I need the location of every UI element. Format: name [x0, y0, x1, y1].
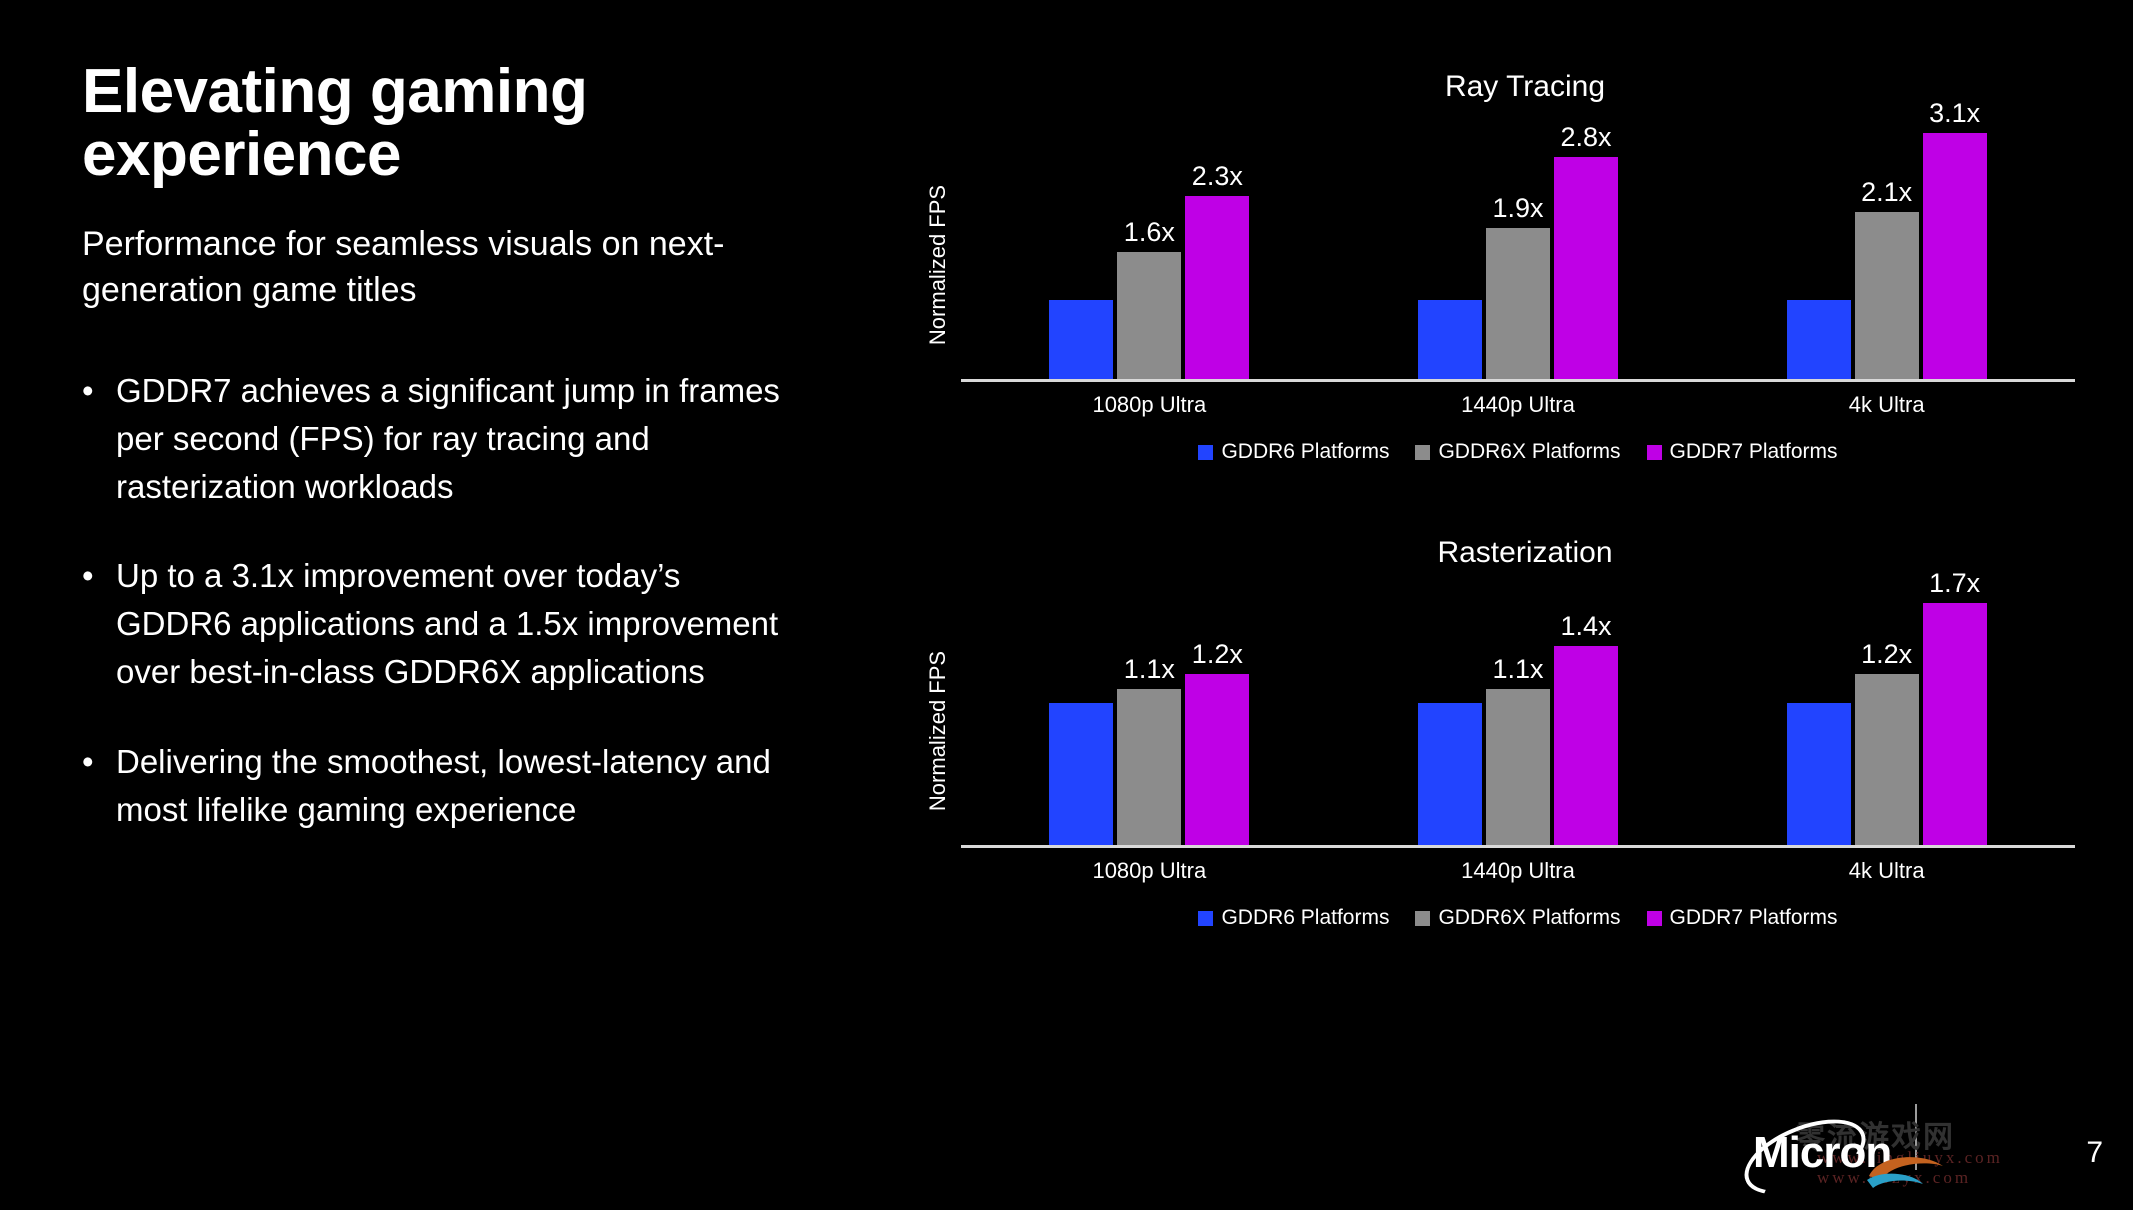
- list-item: • Delivering the smoothest, lowest-laten…: [82, 738, 782, 834]
- legend-swatch-icon: [1647, 445, 1662, 460]
- legend-swatch-icon: [1198, 445, 1213, 460]
- micron-logo: Micron: [1753, 1128, 1891, 1178]
- bar-value-label: 1.6x: [1124, 217, 1175, 248]
- bar-column: [1787, 578, 1851, 845]
- micron-swoosh-icon: [1865, 1146, 1957, 1192]
- y-axis-label: Normalized FPS: [915, 112, 961, 418]
- bar-column: 1.1x: [1486, 578, 1550, 845]
- bar-group: 1.1x1.4x: [1334, 578, 1703, 845]
- bar-column: [1049, 578, 1113, 845]
- bar-column: 1.7x: [1923, 578, 1987, 845]
- bar-value-label: 1.2x: [1861, 639, 1912, 670]
- bar-value-label: 2.3x: [1192, 161, 1243, 192]
- bar-column: 2.3x: [1185, 112, 1249, 379]
- legend-label: GDDR7 Platforms: [1670, 440, 1838, 464]
- legend-swatch-icon: [1198, 911, 1213, 926]
- bar: 2.1x: [1855, 212, 1919, 379]
- chart-legend: GDDR6 PlatformsGDDR6X PlatformsGDDR7 Pla…: [961, 440, 2075, 464]
- legend-item: GDDR7 Platforms: [1647, 906, 1838, 930]
- bar-column: 2.8x: [1554, 112, 1618, 379]
- page-number: 7: [2086, 1136, 2103, 1170]
- legend-item: GDDR7 Platforms: [1647, 440, 1838, 464]
- y-axis-label-text: Normalized FPS: [925, 651, 951, 811]
- bar: [1049, 703, 1113, 845]
- bar-value-label: 1.1x: [1124, 654, 1175, 685]
- y-axis-label-text: Normalized FPS: [925, 185, 951, 345]
- page-title: Elevating gaming experience: [82, 60, 782, 186]
- bar: 1.1x: [1486, 689, 1550, 845]
- bar: 1.6x: [1117, 252, 1181, 379]
- bar-column: 3.1x: [1923, 112, 1987, 379]
- bar-column: [1049, 112, 1113, 379]
- x-axis-tick-label: 4k Ultra: [1702, 392, 2071, 418]
- bar-column: 1.6x: [1117, 112, 1181, 379]
- bar-group: 1.6x2.3x: [965, 112, 1334, 379]
- bar-column: [1787, 112, 1851, 379]
- legend-item: GDDR6 Platforms: [1198, 906, 1389, 930]
- bar-column: 1.1x: [1117, 578, 1181, 845]
- bar-value-label: 1.4x: [1560, 611, 1611, 642]
- bar: [1418, 703, 1482, 845]
- chart-rasterization: Rasterization Normalized FPS 1.1x1.2x1.1…: [915, 536, 2075, 930]
- legend-item: GDDR6X Platforms: [1415, 906, 1620, 930]
- bar-value-label: 2.1x: [1861, 177, 1912, 208]
- x-axis-tick-label: 1080p Ultra: [965, 858, 1334, 884]
- bar-column: 1.2x: [1855, 578, 1919, 845]
- chart-ray-tracing: Ray Tracing Normalized FPS 1.6x2.3x1.9x2…: [915, 70, 2075, 464]
- bar-column: [1418, 112, 1482, 379]
- bar-column: 1.9x: [1486, 112, 1550, 379]
- legend-swatch-icon: [1415, 445, 1430, 460]
- bar-group: 1.1x1.2x: [965, 578, 1334, 845]
- bar: 1.4x: [1554, 646, 1618, 845]
- x-axis-labels: 1080p Ultra1440p Ultra4k Ultra: [961, 392, 2075, 418]
- bar: 2.8x: [1554, 157, 1618, 379]
- plot-area: 1.6x2.3x1.9x2.8x2.1x3.1x 1080p Ultra1440…: [961, 112, 2075, 418]
- bar: [1787, 300, 1851, 379]
- bar-column: 1.4x: [1554, 578, 1618, 845]
- bar: 1.9x: [1486, 228, 1550, 379]
- bar: [1418, 300, 1482, 379]
- bar-value-label: 1.9x: [1492, 193, 1543, 224]
- slide-subtitle: Performance for seamless visuals on next…: [82, 222, 782, 312]
- slide-text-column: Elevating gaming experience Performance …: [82, 60, 782, 876]
- bullet-text: GDDR7 achieves a significant jump in fra…: [116, 367, 782, 511]
- bar: 1.1x: [1117, 689, 1181, 845]
- bar-value-label: 3.1x: [1929, 98, 1980, 129]
- legend-swatch-icon: [1647, 911, 1662, 926]
- legend-label: GDDR6 Platforms: [1221, 906, 1389, 930]
- chart-title: Ray Tracing: [975, 70, 2075, 104]
- bar: [1049, 300, 1113, 379]
- bar-groups: 1.6x2.3x1.9x2.8x2.1x3.1x: [961, 112, 2075, 382]
- bar: 1.2x: [1855, 674, 1919, 845]
- legend-swatch-icon: [1415, 911, 1430, 926]
- plot-area: 1.1x1.2x1.1x1.4x1.2x1.7x 1080p Ultra1440…: [961, 578, 2075, 884]
- x-axis-tick-label: 1440p Ultra: [1334, 858, 1703, 884]
- legend-label: GDDR6X Platforms: [1438, 440, 1620, 464]
- bar-column: 2.1x: [1855, 112, 1919, 379]
- legend-item: GDDR6X Platforms: [1415, 440, 1620, 464]
- x-axis-tick-label: 1440p Ultra: [1334, 392, 1703, 418]
- bar: 2.3x: [1185, 196, 1249, 379]
- chart-legend: GDDR6 PlatformsGDDR6X PlatformsGDDR7 Pla…: [961, 906, 2075, 930]
- legend-label: GDDR7 Platforms: [1670, 906, 1838, 930]
- bar-group: 1.9x2.8x: [1334, 112, 1703, 379]
- x-axis-tick-label: 4k Ultra: [1702, 858, 2071, 884]
- legend-item: GDDR6 Platforms: [1198, 440, 1389, 464]
- bullet-text: Up to a 3.1x improvement over today’s GD…: [116, 552, 782, 696]
- y-axis-label: Normalized FPS: [915, 578, 961, 884]
- x-axis-labels: 1080p Ultra1440p Ultra4k Ultra: [961, 858, 2075, 884]
- bullet-marker-icon: •: [82, 738, 116, 786]
- bar-group: 2.1x3.1x: [1702, 112, 2071, 379]
- list-item: • Up to a 3.1x improvement over today’s …: [82, 552, 782, 696]
- bar-value-label: 2.8x: [1560, 122, 1611, 153]
- bar-column: [1418, 578, 1482, 845]
- bar: 1.2x: [1185, 674, 1249, 845]
- bar: 1.7x: [1923, 603, 1987, 845]
- bar-groups: 1.1x1.2x1.1x1.4x1.2x1.7x: [961, 578, 2075, 848]
- legend-label: GDDR6 Platforms: [1221, 440, 1389, 464]
- bullet-text: Delivering the smoothest, lowest-latency…: [116, 738, 782, 834]
- bar: 3.1x: [1923, 133, 1987, 379]
- bar-group: 1.2x1.7x: [1702, 578, 2071, 845]
- bar-column: 1.2x: [1185, 578, 1249, 845]
- x-axis-tick-label: 1080p Ultra: [965, 392, 1334, 418]
- bullet-marker-icon: •: [82, 552, 116, 600]
- bar-value-label: 1.2x: [1192, 639, 1243, 670]
- bar: [1787, 703, 1851, 845]
- legend-label: GDDR6X Platforms: [1438, 906, 1620, 930]
- bullet-list: • GDDR7 achieves a significant jump in f…: [82, 367, 782, 834]
- slide-footer: 零流游戏网 www.lingliuyx.com www.06zyx.com Mi…: [1733, 1090, 2133, 1200]
- list-item: • GDDR7 achieves a significant jump in f…: [82, 367, 782, 511]
- bar-value-label: 1.1x: [1492, 654, 1543, 685]
- charts-column: Ray Tracing Normalized FPS 1.6x2.3x1.9x2…: [915, 70, 2075, 930]
- bar-value-label: 1.7x: [1929, 568, 1980, 599]
- chart-title: Rasterization: [975, 536, 2075, 570]
- bullet-marker-icon: •: [82, 367, 116, 415]
